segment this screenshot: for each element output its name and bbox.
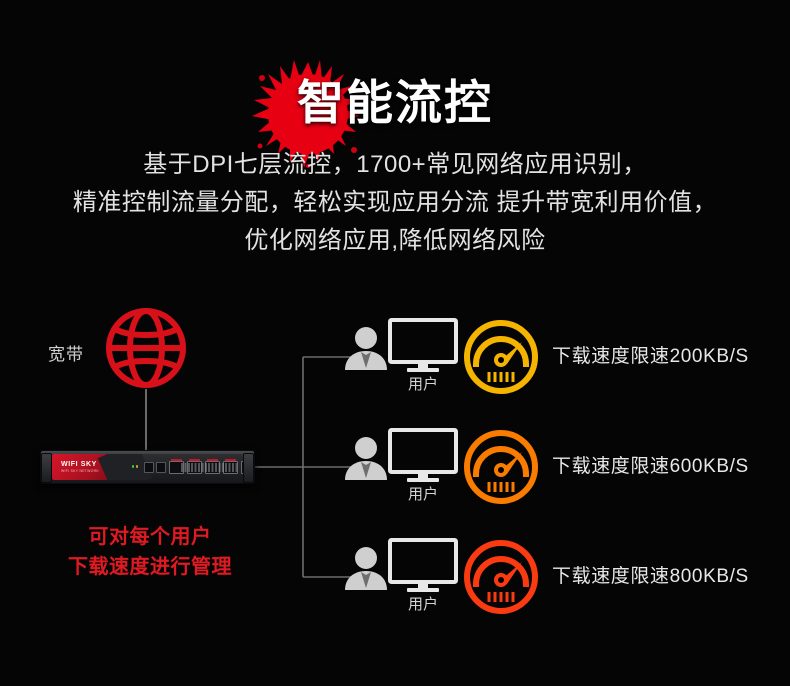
speed-limit-label: 下载速度限速200KB/S xyxy=(552,341,749,368)
led-status xyxy=(136,465,138,468)
description-line-2: 精准控制流量分配，轻松实现应用分流 提升带宽利用价值， xyxy=(0,184,790,222)
usb-port-1 xyxy=(144,462,154,473)
router-brand-text: WIFI SKY xyxy=(61,461,97,468)
rack-ear-right xyxy=(243,453,254,483)
user-label: 用户 xyxy=(388,593,458,614)
person-icon xyxy=(342,324,390,372)
monitor-icon xyxy=(388,538,458,594)
user-row: 用户 下载速度限速600KB/S xyxy=(330,428,790,518)
led-power xyxy=(132,465,134,468)
monitor-icon xyxy=(388,428,458,484)
person-icon xyxy=(342,434,390,482)
description-line-1: 基于DPI七层流控，1700+常见网络应用识别， xyxy=(0,146,790,184)
speed-gauge-icon xyxy=(462,318,540,396)
management-note: 可对每个用户 下载速度进行管理 xyxy=(0,522,300,582)
user-label: 用户 xyxy=(388,483,458,504)
monitor-icon xyxy=(388,318,458,374)
console-port xyxy=(156,462,166,473)
speed-gauge-icon xyxy=(462,428,540,506)
rack-ear-left xyxy=(41,453,52,483)
page-header: 智能流控 xyxy=(0,28,790,138)
router-brand-subtext: WIFI SKY NETWORK xyxy=(61,469,99,473)
status-leds xyxy=(132,465,138,468)
router-device: WIFI SKY WIFI SKY NETWORK xyxy=(40,450,255,484)
user-row: 用户 下载速度限速200KB/S xyxy=(330,318,790,408)
description-block: 基于DPI七层流控，1700+常见网络应用识别， 精准控制流量分配，轻松实现应用… xyxy=(0,146,790,260)
description-line-3: 优化网络应用,降低网络风险 xyxy=(0,222,790,260)
network-diagram: 宽带 WIFI SKY WIFI SKY NETWORK xyxy=(0,290,790,630)
speed-limit-label: 下载速度限速800KB/S xyxy=(552,561,749,588)
person-icon xyxy=(342,544,390,592)
globe-router-link xyxy=(145,389,147,451)
speed-gauge-icon xyxy=(462,538,540,616)
user-row: 用户 下载速度限速800KB/S xyxy=(330,538,790,628)
user-label: 用户 xyxy=(388,373,458,394)
router-model-text xyxy=(181,463,237,472)
management-note-line-1: 可对每个用户 xyxy=(0,522,300,552)
router-front-panel: WIFI SKY WIFI SKY NETWORK xyxy=(52,454,243,480)
management-note-line-2: 下载速度进行管理 xyxy=(0,552,300,582)
page-title: 智能流控 xyxy=(0,74,790,132)
globe-icon xyxy=(105,307,187,389)
speed-limit-label: 下载速度限速600KB/S xyxy=(552,451,749,478)
broadband-label: 宽带 xyxy=(48,340,84,365)
ethernet-port xyxy=(241,461,243,474)
